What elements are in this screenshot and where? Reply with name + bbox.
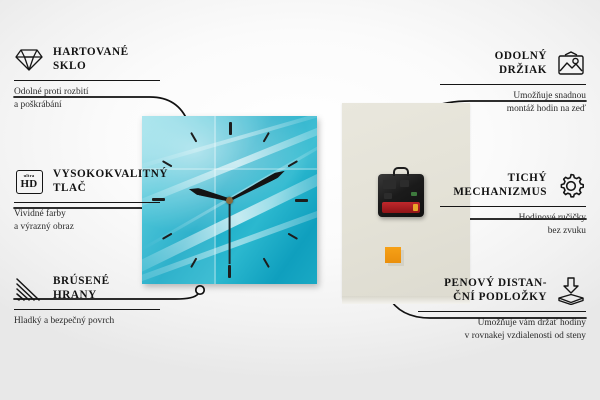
feature-title: BRÚSENÉ HRANY [53,275,110,302]
wall-clock [142,116,317,284]
press-pad-icon [556,277,586,305]
second-hand [229,200,231,264]
divider [418,311,586,312]
feature-foam-spacers: PENOVÝ DISTAN- ČNÍ PODLOŽKY Umožňuje vám… [418,277,586,343]
divider [14,309,160,310]
mechanism-detail [400,180,409,187]
picture-frame-hanger-icon [556,50,586,78]
feature-description: Vividné farby a výrazný obraz [14,208,160,234]
divider [14,202,160,203]
ultra-hd-icon: ultra HD [14,168,44,196]
feature-title: ODOLNÝ DRŽIAK [495,50,547,77]
feature-header: ODOLNÝ DRŽIAK [440,50,586,78]
feature-description: Umožňuje snadnou montáž hodin na zeď [440,90,586,116]
infographic-canvas: HARTOVANÉ SKLO Odolné proti rozbití a po… [0,0,600,400]
ultra-hd-large-text: HD [20,179,37,190]
feature-hardened-glass: HARTOVANÉ SKLO Odolné proti rozbití a po… [14,46,160,112]
divider [14,80,160,81]
divider [440,84,586,85]
clock-mechanism [378,174,424,217]
product-photo [132,103,470,298]
feature-silent-mechanism: TICHÝ MECHANIZMUS Hodinové ručičky bez z… [440,172,586,238]
mechanism-detail [411,192,417,196]
feature-polished-edges: BRÚSENÉ HRANY Hladký a bezpečný povrch [14,275,160,328]
feature-durable-hanger: ODOLNÝ DRŽIAK Umožňuje snadnou montáž ho… [440,50,586,116]
feature-title: PENOVÝ DISTAN- ČNÍ PODLOŽKY [444,277,547,304]
aa-battery [382,202,420,213]
diamond-icon [14,46,44,74]
divider [440,206,586,207]
feature-title: TICHÝ MECHANIZMUS [453,172,547,199]
feature-header: TICHÝ MECHANIZMUS [440,172,586,200]
feature-description: Umožňuje vám držať hodiny v rovnakej vzd… [418,317,586,343]
brushed-edges-icon [14,275,44,303]
feature-high-quality-print: ultra HD VYSOKOKVALITNÝ TLAČ Vividné far… [14,168,160,234]
mechanism-detail [384,193,392,199]
feature-title: HARTOVANÉ SKLO [53,46,129,73]
feature-description: Hodinové ručičky bez zvuku [440,212,586,238]
feature-header: ultra HD VYSOKOKVALITNÝ TLAČ [14,168,160,196]
feature-title: VYSOKOKVALITNÝ TLAČ [53,168,168,195]
hand-center-cap [226,197,233,204]
gear-icon [556,172,586,200]
mechanism-detail [383,180,396,189]
mechanism-hanger-hook [393,167,409,176]
feature-description: Odolné proti rozbití a poškrábání [14,86,160,112]
feature-header: BRÚSENÉ HRANY [14,275,160,303]
feature-description: Hladký a bezpečný povrch [14,315,160,328]
feature-header: PENOVÝ DISTAN- ČNÍ PODLOŽKY [418,277,586,305]
feature-header: HARTOVANÉ SKLO [14,46,160,74]
foam-spacer-pad [385,247,401,263]
